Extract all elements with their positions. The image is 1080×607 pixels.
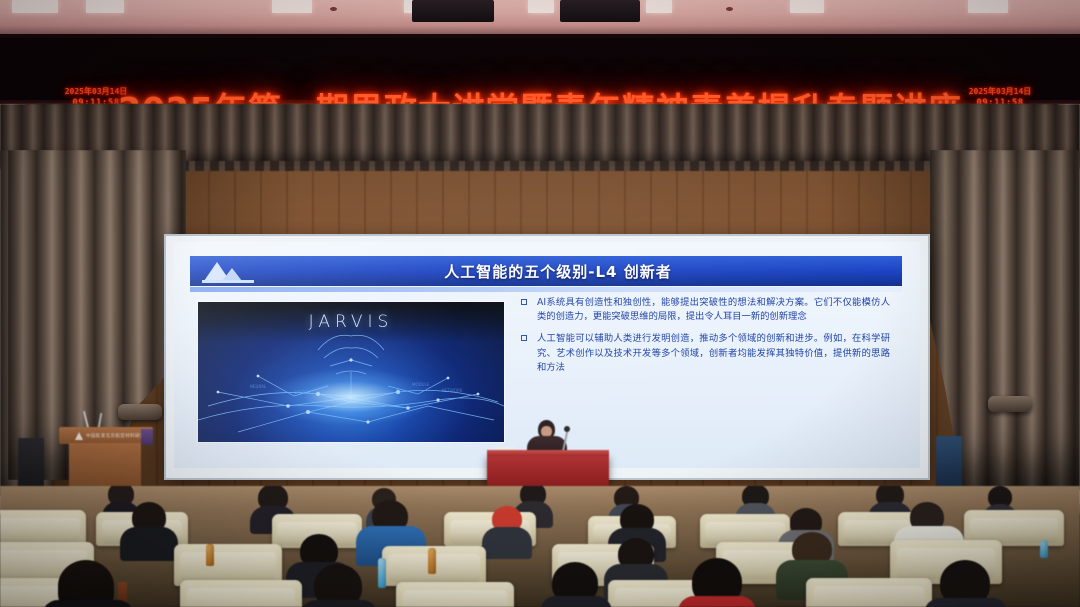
ceiling-light-panel: [272, 0, 312, 13]
water-bottle: [428, 548, 436, 574]
curtain-tieback-left: [118, 404, 162, 420]
curtain-tieback-right: [988, 396, 1032, 412]
slide-title: 人工智能的五个级别-L4 创新者: [260, 261, 902, 282]
ceiling: [0, 0, 1080, 34]
lecture-hall-photo: 2025年03月14日 09:11:58 星期五 2025年第一期思政大讲堂暨青…: [0, 0, 1080, 607]
slide-bullet-item: AI系统具有创造性和独创性，能够提出突破性的想法和解决方案。它们不仅能模仿人类的…: [520, 296, 890, 324]
bullet-text: AI系统具有创造性和独创性，能够提出突破性的想法和解决方案。它们不仅能模仿人类的…: [537, 297, 890, 322]
clock-date: 2025年03月14日: [969, 87, 1032, 97]
auditorium-seat: [396, 582, 514, 607]
slide-title-bar: 人工智能的五个级别-L4 创新者: [190, 256, 902, 286]
audience-area: [0, 486, 1080, 607]
water-bottle: [378, 558, 386, 588]
ceiling-light-panel: [528, 0, 554, 13]
bullet-text: 人工智能可以辅助人类进行发明创造，推动多个领域的创新和进步。例如，在科学研究、艺…: [537, 333, 890, 372]
mountain-logo-icon: [202, 258, 260, 284]
auditorium-seat: [180, 580, 302, 607]
led-banner: 2025年03月14日 09:11:58 星期五 2025年第一期思政大讲堂暨青…: [0, 38, 1080, 100]
ceiling-speaker-box: [560, 0, 640, 22]
slide-image-jarvis: NEURAL SYSTEM MODULE NETWORK JARVIS: [198, 302, 504, 442]
auditorium-seat: [806, 578, 932, 607]
bullet-square-icon: [521, 335, 527, 341]
podium-name-plate: 中国航发北京航空材料研究院: [71, 430, 147, 441]
slide-bullet-list: AI系统具有创造性和独创性，能够提出突破性的想法和解决方案。它们不仅能模仿人类的…: [520, 296, 890, 383]
ceiling-spot-light: [330, 7, 337, 11]
ceiling-light-panel: [968, 0, 1008, 13]
svg-text:NEURAL: NEURAL: [250, 384, 267, 389]
bullet-square-icon: [521, 299, 527, 305]
water-bottle: [206, 544, 214, 566]
ceiling-light-panel: [790, 0, 824, 13]
auditorium-seat: [0, 510, 86, 546]
podium-laptop: [141, 429, 153, 445]
jarvis-caption: JARVIS: [198, 312, 504, 332]
mountain-logo-icon: [75, 432, 83, 440]
ceiling-light-panel: [12, 0, 58, 13]
ceiling-light-panel: [86, 0, 124, 13]
ceiling-speaker-box: [412, 0, 494, 22]
water-bottle: [1040, 540, 1048, 558]
ceiling-spot-light: [726, 7, 733, 11]
table-microphone-head: [564, 426, 570, 432]
svg-text:NETWORK: NETWORK: [442, 388, 463, 393]
slide-bullet-item: 人工智能可以辅助人类进行发明创造，推动多个领域的创新和进步。例如，在科学研究、艺…: [520, 332, 890, 375]
ceiling-light-panel: [646, 0, 672, 13]
